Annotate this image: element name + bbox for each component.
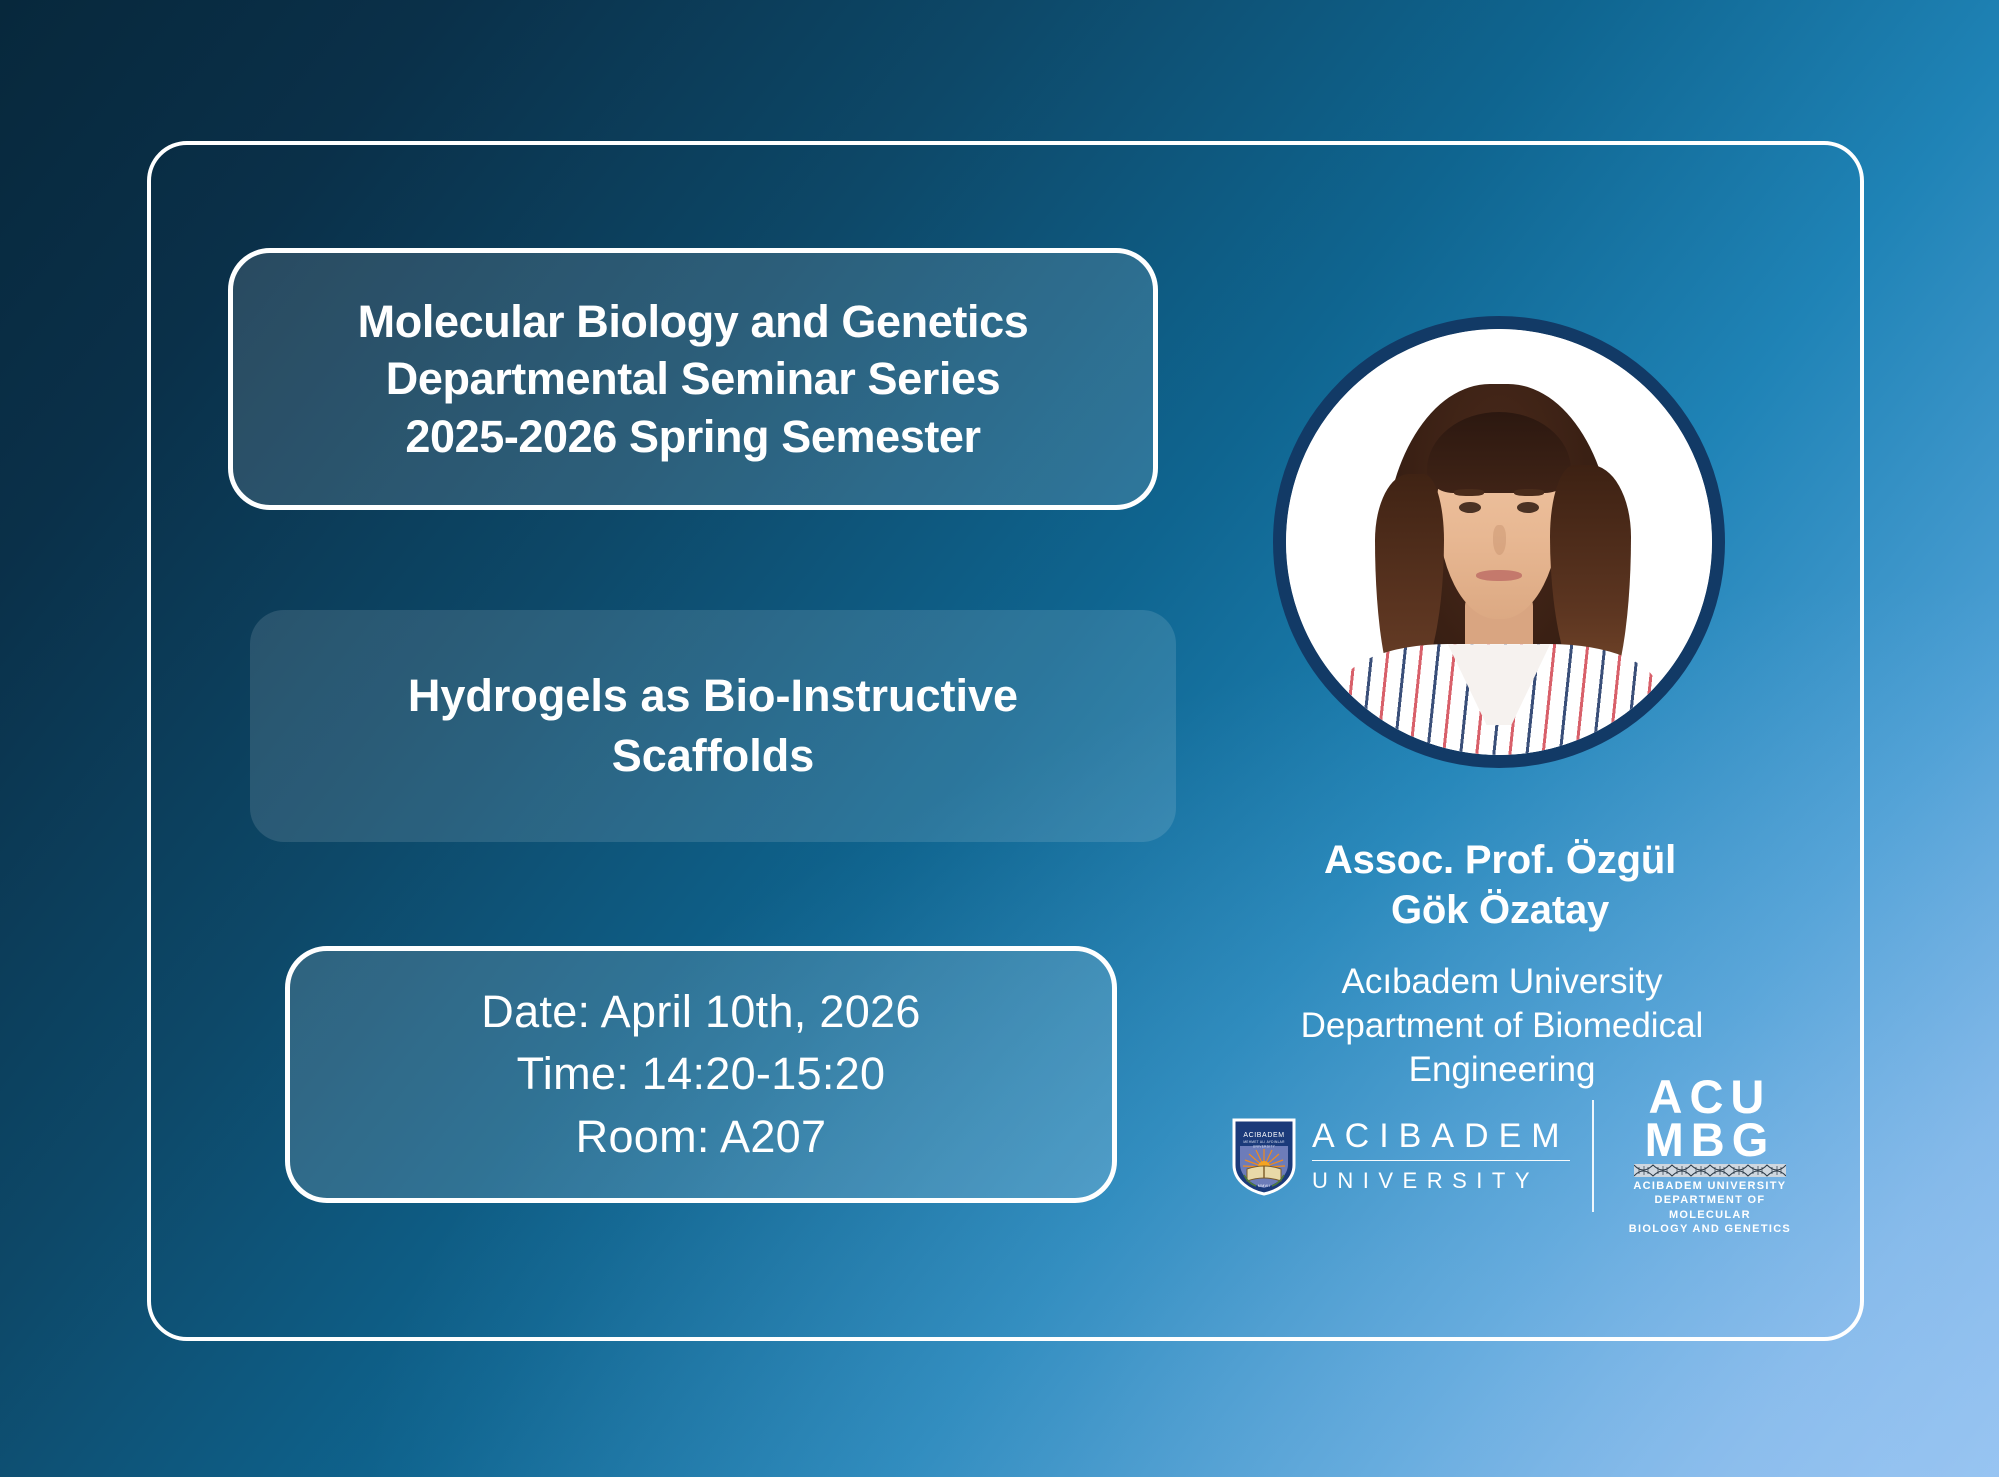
speaker-name-line-1: Assoc. Prof. Özgül: [1240, 835, 1760, 885]
seminar-time: Time: 14:20-15:20: [517, 1043, 886, 1105]
affiliation-line-2: Department of Biomedical: [1222, 1004, 1782, 1048]
seminar-topic-card: Hydrogels as Bio-Instructive Scaffolds: [250, 610, 1176, 842]
speaker-name: Assoc. Prof. Özgül Gök Özatay: [1240, 835, 1760, 935]
portrait-mouth: [1476, 570, 1523, 581]
seminar-topic-text: Hydrogels as Bio-Instructive Scaffolds: [250, 666, 1176, 786]
title-line-2: Departmental Seminar Series: [358, 350, 1029, 407]
seminar-date: Date: April 10th, 2026: [481, 981, 920, 1043]
portrait-eyebrow-left: [1454, 489, 1484, 496]
svg-text:MEHMET ALI AYDINLAR: MEHMET ALI AYDINLAR: [1243, 1140, 1285, 1144]
title-line-1: Molecular Biology and Genetics: [358, 293, 1029, 350]
acibadem-wordmark-line-2: UNIVERSITY: [1312, 1161, 1570, 1192]
portrait-eye-right: [1517, 502, 1539, 513]
svg-text:UNIVERSITY: UNIVERSITY: [1253, 1144, 1276, 1148]
mbg-subtitle: ACIBADEM UNIVERSITY DEPARTMENT OF MOLECU…: [1620, 1179, 1800, 1236]
title-line-3: 2025-2026 Spring Semester: [358, 408, 1029, 465]
dna-helix-icon: [1634, 1164, 1786, 1177]
acibadem-wordmark: ACIBADEM UNIVERSITY: [1312, 1119, 1570, 1193]
acibadem-wordmark-line-1: ACIBADEM: [1312, 1119, 1570, 1160]
speaker-photo-ring: [1273, 316, 1725, 768]
seminar-poster: Molecular Biology and Genetics Departmen…: [0, 0, 1999, 1477]
acu-mbg-logo: ACU MBG: [1620, 1075, 1800, 1237]
speaker-photo: [1273, 316, 1725, 768]
seminar-series-title-lines: Molecular Biology and Genetics Departmen…: [332, 293, 1055, 464]
speaker-name-line-2: Gök Özatay: [1240, 885, 1760, 935]
acibadem-university-logo: ACIBADEM MEHMET ALI AYDINLAR UNIVERSITY: [1230, 1115, 1570, 1197]
portrait-nose: [1493, 525, 1506, 555]
mbg-subtitle-line-1: ACIBADEM UNIVERSITY: [1620, 1179, 1800, 1193]
speaker-photo-image: [1286, 329, 1712, 755]
logo-row: ACIBADEM MEHMET ALI AYDINLAR UNIVERSITY: [1230, 1093, 1800, 1218]
svg-text:ACIBADEM: ACIBADEM: [1243, 1132, 1284, 1139]
mbg-letters-line-1: ACU: [1649, 1075, 1772, 1119]
poster-content: Molecular Biology and Genetics Departmen…: [0, 0, 1999, 1477]
seminar-room: Room: A207: [576, 1106, 827, 1168]
svg-text:MMVII: MMVII: [1258, 1184, 1270, 1188]
mbg-subtitle-line-2: DEPARTMENT OF MOLECULAR: [1620, 1193, 1800, 1222]
portrait-eyebrow-right: [1514, 489, 1544, 496]
acibadem-crest-icon: ACIBADEM MEHMET ALI AYDINLAR UNIVERSITY: [1230, 1115, 1298, 1197]
affiliation-line-1: Acıbadem University: [1222, 960, 1782, 1004]
mbg-subtitle-line-3: BIOLOGY AND GENETICS: [1620, 1222, 1800, 1236]
seminar-datetime-card: Date: April 10th, 2026 Time: 14:20-15:20…: [285, 946, 1117, 1203]
seminar-series-title-card: Molecular Biology and Genetics Departmen…: [228, 248, 1158, 510]
portrait-eye-left: [1459, 502, 1481, 513]
mbg-letters-line-2: MBG: [1645, 1118, 1776, 1162]
logo-divider: [1592, 1100, 1594, 1212]
